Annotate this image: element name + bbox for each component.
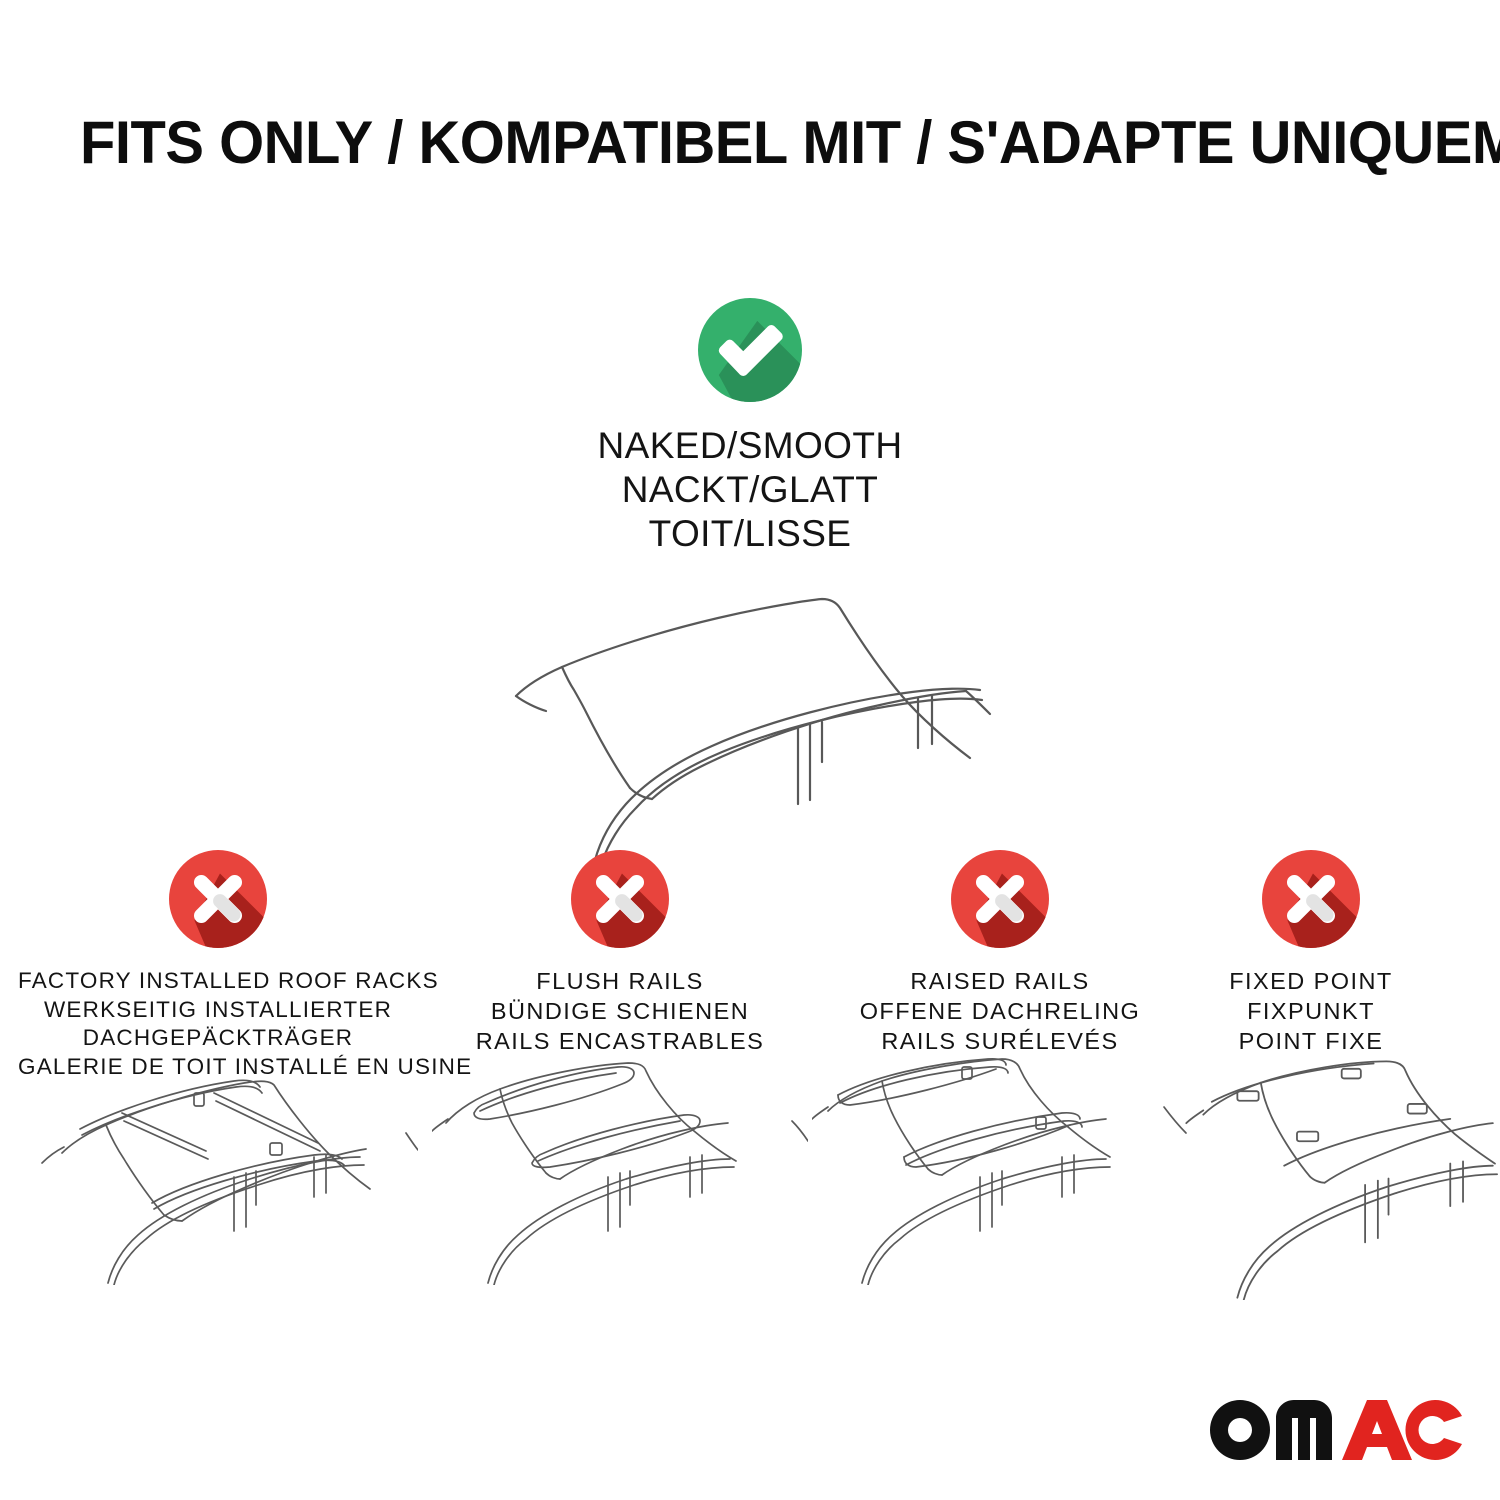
omac-logo	[1204, 1394, 1464, 1472]
incompatible-labels: FIXED POINT FIXPUNKT POINT FIXE	[1190, 967, 1432, 1057]
label-line-fr: RAILS ENCASTRABLES	[432, 1027, 808, 1057]
compatible-panel: NAKED/SMOOTH NACKT/GLATT TOIT/LISSE	[450, 298, 1050, 862]
incompatible-panel-fixed-point: FIXED POINT FIXPUNKT POINT FIXE	[1190, 850, 1432, 1057]
factory-roof-rack-illustration	[18, 1055, 418, 1285]
compatible-labels: NAKED/SMOOTH NACKT/GLATT TOIT/LISSE	[450, 424, 1050, 556]
compatible-label-de: NACKT/GLATT	[450, 468, 1050, 512]
infographic-root: FITS ONLY / KOMPATIBEL MIT / S'ADAPTE UN…	[0, 0, 1500, 1500]
label-line-fr: RAILS SURÉLEVÉS	[812, 1027, 1188, 1057]
label-line-en: FACTORY INSTALLED ROOF RACKS	[18, 967, 418, 996]
naked-smooth-roof-illustration	[450, 572, 1050, 862]
x-circle-icon	[169, 850, 267, 948]
incompatible-labels: RAISED RAILS OFFENE DACHRELING RAILS SUR…	[812, 967, 1188, 1057]
x-circle-icon	[951, 850, 1049, 948]
label-line-en: RAISED RAILS	[812, 967, 1188, 997]
incompatible-labels: FLUSH RAILS BÜNDIGE SCHIENEN RAILS ENCAS…	[432, 967, 808, 1057]
page-title: FITS ONLY / KOMPATIBEL MIT / S'ADAPTE UN…	[80, 108, 1500, 177]
compatible-label-en: NAKED/SMOOTH	[450, 424, 1050, 468]
label-line-fr: POINT FIXE	[1190, 1027, 1432, 1057]
x-circle-icon	[571, 850, 669, 948]
label-line-de: OFFENE DACHRELING	[812, 997, 1188, 1027]
incompatible-panel-factory-roof-racks: FACTORY INSTALLED ROOF RACKS WERKSEITIG …	[18, 850, 418, 1081]
label-line-en: FIXED POINT	[1190, 967, 1432, 997]
compatible-label-fr: TOIT/LISSE	[450, 512, 1050, 556]
label-line-de: FIXPUNKT	[1190, 997, 1432, 1027]
raised-rails-roof-illustration	[812, 1055, 1188, 1285]
incompatible-panel-raised-rails: RAISED RAILS OFFENE DACHRELING RAILS SUR…	[812, 850, 1188, 1057]
fixed-point-roof-illustration	[1190, 1055, 1432, 1300]
incompatible-panel-flush-rails: FLUSH RAILS BÜNDIGE SCHIENEN RAILS ENCAS…	[432, 850, 808, 1057]
check-circle-icon	[698, 298, 802, 402]
label-line-de-2: DACHGEPÄCKTRÄGER	[18, 1024, 418, 1053]
label-line-de: BÜNDIGE SCHIENEN	[432, 997, 808, 1027]
label-line-en: FLUSH RAILS	[432, 967, 808, 997]
label-line-de-1: WERKSEITIG INSTALLIERTER	[18, 996, 418, 1025]
x-circle-icon	[1262, 850, 1360, 948]
flush-rails-roof-illustration	[432, 1055, 808, 1285]
